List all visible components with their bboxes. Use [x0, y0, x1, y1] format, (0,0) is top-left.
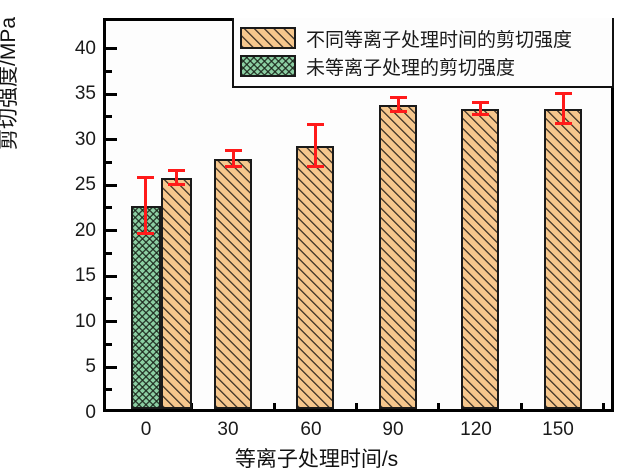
bar-treated-60s[interactable] [296, 146, 334, 409]
legend-swatch-untreated-icon [240, 55, 296, 77]
x-tick-label-90: 90 [363, 419, 423, 441]
errorbar-cap-top-treated-90s [390, 96, 407, 99]
y-tick-label-0: 0 [50, 402, 96, 424]
y-minor-tick-325 [106, 115, 112, 118]
legend-item-untreated[interactable]: 未等离子处理的剪切强度 [240, 52, 604, 80]
y-major-tick-10 [106, 320, 117, 323]
errorbar-cap-bottom-treated-0s [168, 183, 185, 186]
x-minor-tick-135 [520, 403, 523, 409]
y-tick-label-10: 10 [50, 311, 96, 333]
errorbar-cap-bottom-treated-150s [555, 122, 572, 125]
errorbar-cap-top-treated-60s [307, 123, 324, 126]
y-tick-label-5: 5 [50, 356, 96, 378]
errorbar-cap-top-treated-120s [472, 101, 489, 104]
y-major-tick-40 [106, 47, 117, 50]
errorbar-cap-bottom-treated-120s [472, 113, 489, 116]
y-axis-title: 剪切强度/MPa [0, 17, 22, 150]
x-axis-title: 等离子处理时间/s [0, 443, 633, 473]
y-minor-tick-125 [106, 297, 112, 300]
x-minor-tick-75 [355, 403, 358, 409]
errorbar-cap-bottom-treated-60s [307, 165, 324, 168]
x-tick-label-150: 150 [528, 419, 588, 441]
y-minor-tick-75 [106, 343, 112, 346]
y-minor-tick-225 [106, 206, 112, 209]
y-minor-tick-275 [106, 161, 112, 164]
legend-label-treated: 不同等离子处理时间的剪切强度 [306, 25, 572, 52]
x-tick-label-30: 30 [198, 419, 258, 441]
y-tick-label-15: 15 [50, 265, 96, 287]
y-major-tick-35 [106, 93, 117, 96]
x-minor-tick-165 [602, 403, 605, 409]
y-minor-tick-25 [106, 388, 112, 391]
x-tick-label-120: 120 [446, 419, 506, 441]
y-major-tick-30 [106, 138, 117, 141]
y-tick-label-25: 25 [50, 174, 96, 196]
y-major-tick-15 [106, 275, 117, 278]
chart-figure: 剪切强度/MPa 40 35 30 25 20 15 10 5 0 0 30 6… [0, 0, 633, 471]
errorbar-cap-top-treated-30s [225, 149, 242, 152]
x-minor-tick-45 [273, 403, 276, 409]
y-tick-label-40: 40 [50, 38, 96, 60]
errorbar-cap-bottom-treated-90s [390, 110, 407, 113]
x-tick-label-0: 0 [116, 419, 176, 441]
errorbar-cap-bottom-untreated-0s [137, 232, 154, 235]
y-major-tick-25 [106, 184, 117, 187]
y-major-tick-5 [106, 366, 117, 369]
y-minor-tick-375 [106, 70, 112, 73]
y-tick-label-35: 35 [50, 83, 96, 105]
y-tick-label-30: 30 [50, 129, 96, 151]
errorbar-cap-bottom-treated-30s [225, 165, 242, 168]
bar-untreated-0s[interactable] [131, 206, 161, 409]
chart-legend[interactable]: 不同等离子处理时间的剪切强度 未等离子处理的剪切强度 [232, 18, 614, 88]
errorbar-cap-top-treated-0s [168, 169, 185, 172]
legend-swatch-treated-icon [240, 27, 296, 49]
bar-treated-90s[interactable] [379, 105, 417, 409]
errorbar-treated-60s [314, 123, 317, 168]
y-tick-label-20: 20 [50, 220, 96, 242]
errorbar-untreated-0s [144, 177, 147, 235]
bar-treated-0s[interactable] [161, 178, 192, 409]
x-minor-tick-105 [437, 403, 440, 409]
y-major-tick-20 [106, 229, 117, 232]
bar-treated-150s[interactable] [544, 109, 582, 409]
bar-treated-120s[interactable] [461, 109, 499, 409]
errorbar-treated-150s [562, 93, 565, 125]
legend-item-treated[interactable]: 不同等离子处理时间的剪切强度 [240, 24, 604, 52]
x-tick-label-60: 60 [281, 419, 341, 441]
errorbar-cap-top-untreated-0s [137, 176, 154, 179]
errorbar-cap-top-treated-150s [555, 92, 572, 95]
legend-label-untreated: 未等离子处理的剪切强度 [306, 53, 515, 80]
bar-treated-30s[interactable] [214, 159, 252, 409]
y-minor-tick-175 [106, 252, 112, 255]
